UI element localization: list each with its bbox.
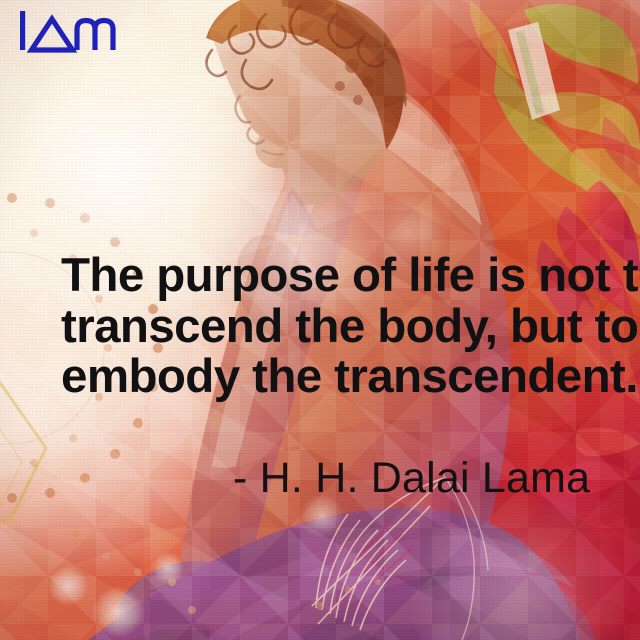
quote-line-2: transcend the body, but to [61,302,621,353]
quote-text-block: The purpose of life is not to transcend … [61,251,621,403]
logo-letter-m [77,21,113,51]
gold-star-outline [0,358,46,536]
quote-attribution: - H. H. Dalai Lama [233,454,590,502]
quote-poster: The purpose of life is not to transcend … [0,0,640,640]
quote-line-3: embody the transcendent. [61,352,621,403]
logo-letter-delta [32,19,73,50]
i-am-triangle-logo [19,10,119,54]
quote-line-1: The purpose of life is not to [61,251,621,302]
i-am-logo[interactable] [19,10,119,54]
logo-letter-i [20,11,25,50]
